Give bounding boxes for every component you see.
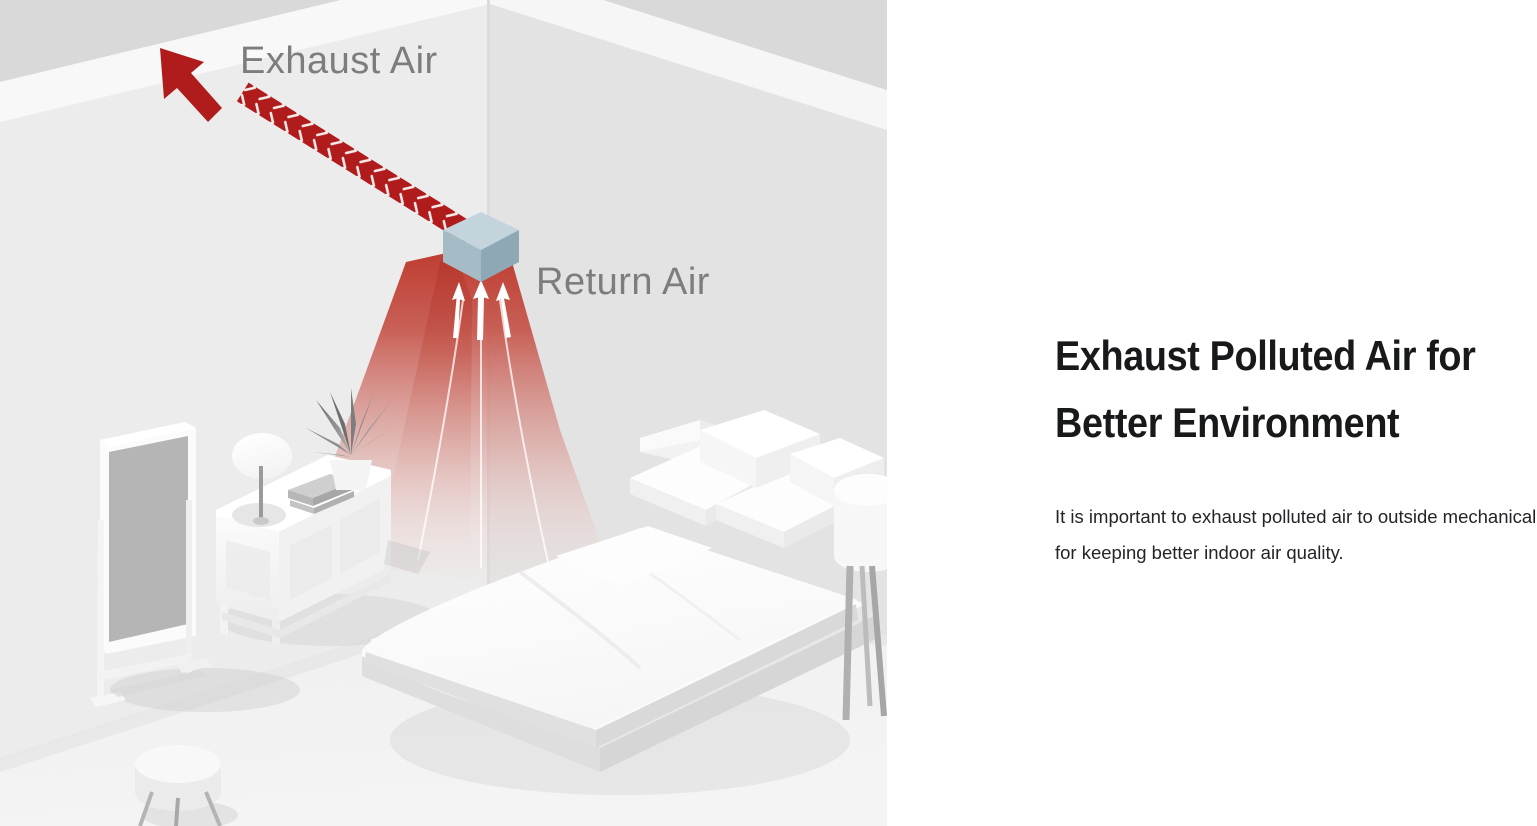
exhaust-air-label: Exhaust Air bbox=[240, 40, 438, 83]
body-paragraph: It is important to exhaust polluted air … bbox=[1055, 456, 1537, 571]
return-air-label: Return Air bbox=[536, 261, 710, 304]
room-scene-svg bbox=[0, 0, 887, 826]
page-root: Exhaust Air Return Air Exhaust Polluted … bbox=[0, 0, 1537, 826]
ventilation-illustration: Exhaust Air Return Air bbox=[0, 0, 887, 826]
headline-line-2: Better Environment bbox=[1055, 399, 1399, 446]
text-block: Exhaust Polluted Air for Better Environm… bbox=[1055, 322, 1535, 571]
headline-line-1: Exhaust Polluted Air for bbox=[1055, 332, 1476, 379]
page-title: Exhaust Polluted Air for Better Environm… bbox=[1055, 322, 1535, 456]
text-panel: Exhaust Polluted Air for Better Environm… bbox=[887, 0, 1537, 826]
